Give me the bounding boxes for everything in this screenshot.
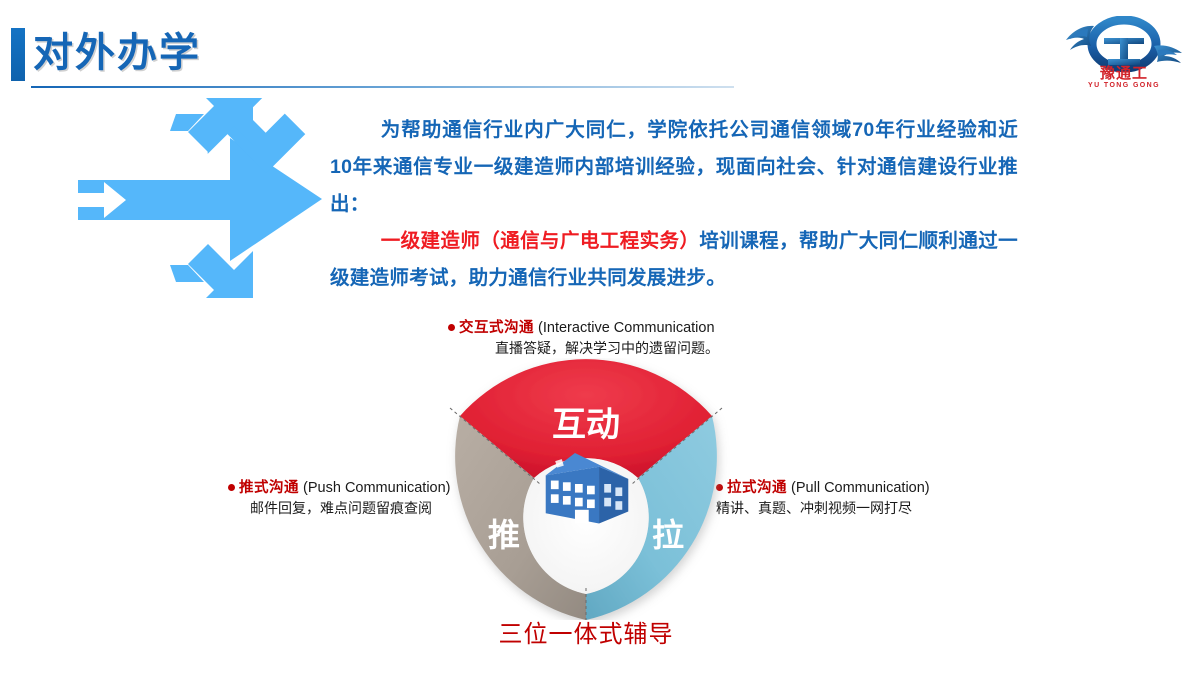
callout-pull-title: 拉式沟通 (Pull Communication) xyxy=(716,478,930,498)
callout-push-title: 推式沟通 (Push Communication) xyxy=(228,478,451,498)
logo-english-text: YU TONG GONG xyxy=(1058,82,1190,89)
segment-label-pull: 拉 xyxy=(652,517,684,553)
callout-interactive: 交互式沟通 (Interactive Communication 直播答疑，解决… xyxy=(448,318,748,358)
callout-pull-title-en: (Pull Communication) xyxy=(791,480,930,496)
segment-label-interactive: 互动 xyxy=(552,406,620,444)
bullet-dot-icon xyxy=(228,484,235,491)
callout-interactive-desc: 直播答疑，解决学习中的遗留问题。 xyxy=(448,338,748,358)
callout-pull-desc: 精讲、真题、冲刺视频一网打尽 xyxy=(716,498,930,518)
title-accent-bar xyxy=(11,28,25,81)
bullet-dot-icon xyxy=(448,324,455,331)
logo-chinese-text: 豫通工 xyxy=(1058,66,1190,82)
callout-push: 推式沟通 (Push Communication) 邮件回复，难点问题留痕查阅 xyxy=(228,478,451,518)
diagram-caption: 三位一体式辅导 xyxy=(440,620,732,650)
callout-interactive-title-cn: 交互式沟通 xyxy=(459,320,534,336)
callout-pull-title-cn: 拉式沟通 xyxy=(727,480,787,496)
callout-push-title-en: (Push Communication) xyxy=(303,480,450,496)
slide-header: 对外办学 xyxy=(0,0,1200,100)
callout-pull: 拉式沟通 (Pull Communication) 精讲、真题、冲刺视频一网打尽 xyxy=(716,478,930,518)
title-underline xyxy=(31,86,734,88)
body-paragraphs: 为帮助通信行业内广大同仁，学院依托公司通信领域70年行业经验和近10年来通信专业… xyxy=(330,112,1018,297)
callout-push-title-cn: 推式沟通 xyxy=(239,480,299,496)
slide-canvas: 对外办学 xyxy=(0,0,1200,675)
three-converging-arrows-icon xyxy=(78,98,330,298)
company-logo: 豫通工 YU TONG GONG xyxy=(1058,16,1190,92)
segment-label-push: 推 xyxy=(488,517,520,553)
paragraph-two: 一级建造师（通信与广电工程实务）培训课程，帮助广大同仁顺利通过一级建造师考试，助… xyxy=(330,223,1018,297)
dragon-emblem-icon xyxy=(1058,16,1190,72)
paragraph-one: 为帮助通信行业内广大同仁，学院依托公司通信领域70年行业经验和近10年来通信专业… xyxy=(330,112,1018,223)
course-name-highlight: 一级建造师（通信与广电工程实务） xyxy=(381,230,700,252)
callout-interactive-title-en: (Interactive Communication xyxy=(538,320,715,336)
page-title: 对外办学 xyxy=(33,28,201,78)
callout-interactive-title: 交互式沟通 (Interactive Communication xyxy=(448,318,748,338)
three-in-one-diagram: 互动 推 拉 xyxy=(440,358,732,620)
callout-push-desc: 邮件回复，难点问题留痕查阅 xyxy=(228,498,451,518)
